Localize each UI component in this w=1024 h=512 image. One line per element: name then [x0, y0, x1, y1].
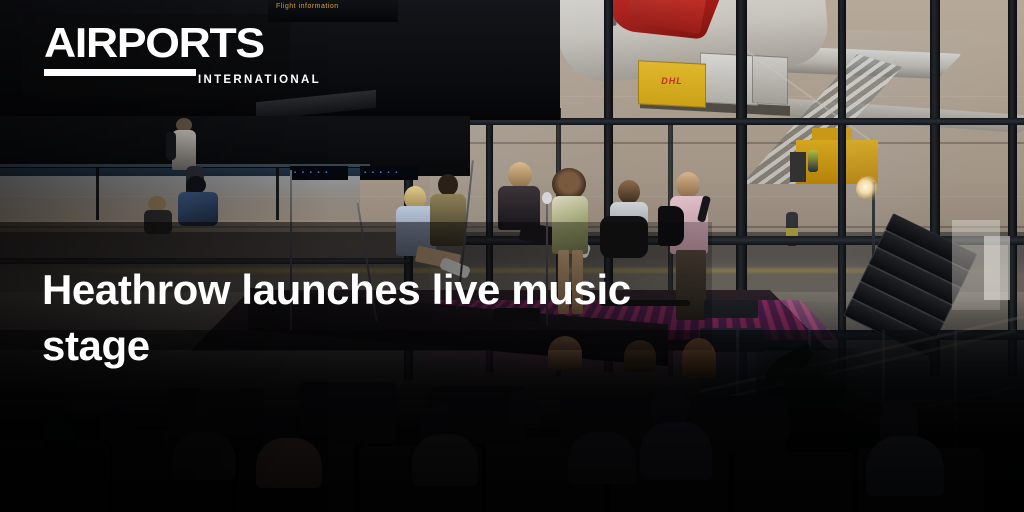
logo-wordmark: AIRPORTS — [44, 22, 298, 64]
logo-subtitle: INTERNATIONAL — [198, 74, 321, 86]
logo-rule — [44, 69, 196, 76]
site-logo[interactable]: AIRPORTS INTERNATIONAL — [44, 22, 284, 76]
outdoor-panel — [984, 236, 1010, 300]
article-hero-banner: DHL Flight information ▪ ▪ ▪ ▪ ▪ ▪ ▪ ▪ ▪… — [0, 0, 1024, 512]
departure-board-text: ▪ ▪ ▪ ▪ ▪ — [364, 170, 399, 176]
departure-board: ▪ ▪ ▪ ▪ ▪ — [360, 166, 418, 180]
stage-light-fixture — [856, 176, 882, 202]
article-headline[interactable]: Heathrow launches live music stage — [42, 262, 702, 374]
